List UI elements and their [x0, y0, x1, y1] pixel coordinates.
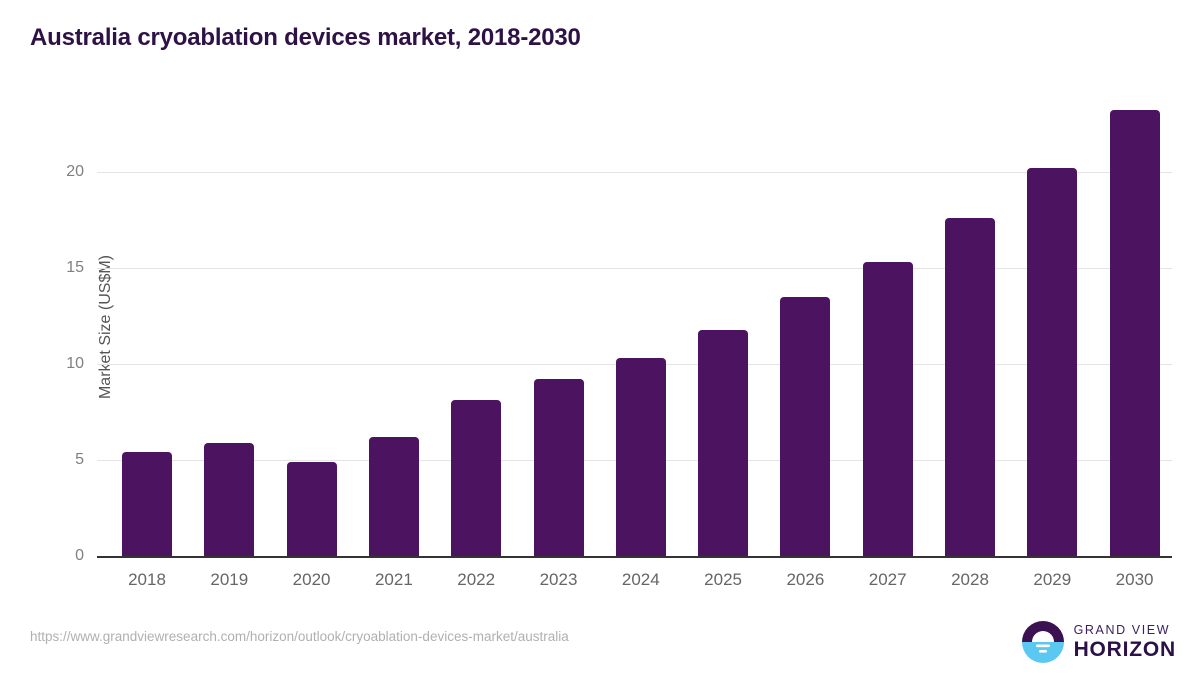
x-tick-label: 2029	[1033, 570, 1071, 590]
bar[interactable]	[451, 400, 501, 556]
bar[interactable]	[369, 437, 419, 556]
x-tick-label: 2026	[786, 570, 824, 590]
bar-group[interactable]: 2023	[534, 95, 584, 556]
x-tick-label: 2028	[951, 570, 989, 590]
x-tick-label: 2020	[293, 570, 331, 590]
y-tick-label: 10	[66, 355, 84, 373]
bar-group[interactable]: 2026	[780, 95, 830, 556]
bar[interactable]	[204, 443, 254, 556]
bar-group[interactable]: 2022	[451, 95, 501, 556]
x-tick-label: 2021	[375, 570, 413, 590]
logo-wordmark: GRAND VIEW HORIZON	[1074, 624, 1176, 661]
bar[interactable]	[616, 358, 666, 556]
chart-canvas: Australia cryoablation devices market, 2…	[0, 0, 1200, 675]
plot-area: Market Size (US$M) 05101520 201820192020…	[97, 95, 1172, 558]
x-tick-label: 2018	[128, 570, 166, 590]
y-tick-label: 20	[66, 163, 84, 181]
brand-logo: GRAND VIEW HORIZON	[1021, 620, 1176, 664]
bar-group[interactable]: 2020	[287, 95, 337, 556]
bar-group[interactable]: 2027	[863, 95, 913, 556]
logo-line-1: GRAND VIEW	[1074, 624, 1176, 637]
x-tick-label: 2027	[869, 570, 907, 590]
x-tick-label: 2019	[210, 570, 248, 590]
x-tick-label: 2022	[457, 570, 495, 590]
bar[interactable]	[534, 379, 584, 556]
x-tick-label: 2030	[1116, 570, 1154, 590]
bar-group[interactable]: 2025	[698, 95, 748, 556]
bar[interactable]	[1027, 168, 1077, 556]
bar-group[interactable]: 2024	[616, 95, 666, 556]
y-tick-label: 0	[75, 547, 84, 565]
bar-group[interactable]: 2021	[369, 95, 419, 556]
x-axis-line	[97, 556, 1172, 558]
source-url[interactable]: https://www.grandviewresearch.com/horizo…	[30, 629, 569, 644]
bar[interactable]	[863, 262, 913, 556]
x-tick-label: 2023	[540, 570, 578, 590]
bar-group[interactable]: 2029	[1027, 95, 1077, 556]
bar[interactable]	[945, 218, 995, 556]
page-title: Australia cryoablation devices market, 2…	[30, 24, 581, 52]
bar[interactable]	[287, 462, 337, 556]
bar-group[interactable]: 2019	[204, 95, 254, 556]
logo-line-2: HORIZON	[1074, 639, 1176, 660]
y-tick-label: 15	[66, 259, 84, 277]
bar-group[interactable]: 2030	[1110, 95, 1160, 556]
bar[interactable]	[1110, 110, 1160, 556]
bar[interactable]	[780, 297, 830, 556]
bar-series: 2018201920202021202220232024202520262027…	[97, 95, 1172, 556]
bar-group[interactable]: 2028	[945, 95, 995, 556]
bar[interactable]	[698, 330, 748, 556]
horizon-logo-icon	[1021, 620, 1065, 664]
y-tick-label: 5	[75, 451, 84, 469]
x-tick-label: 2024	[622, 570, 660, 590]
bar[interactable]	[122, 452, 172, 556]
bar-group[interactable]: 2018	[122, 95, 172, 556]
x-tick-label: 2025	[704, 570, 742, 590]
